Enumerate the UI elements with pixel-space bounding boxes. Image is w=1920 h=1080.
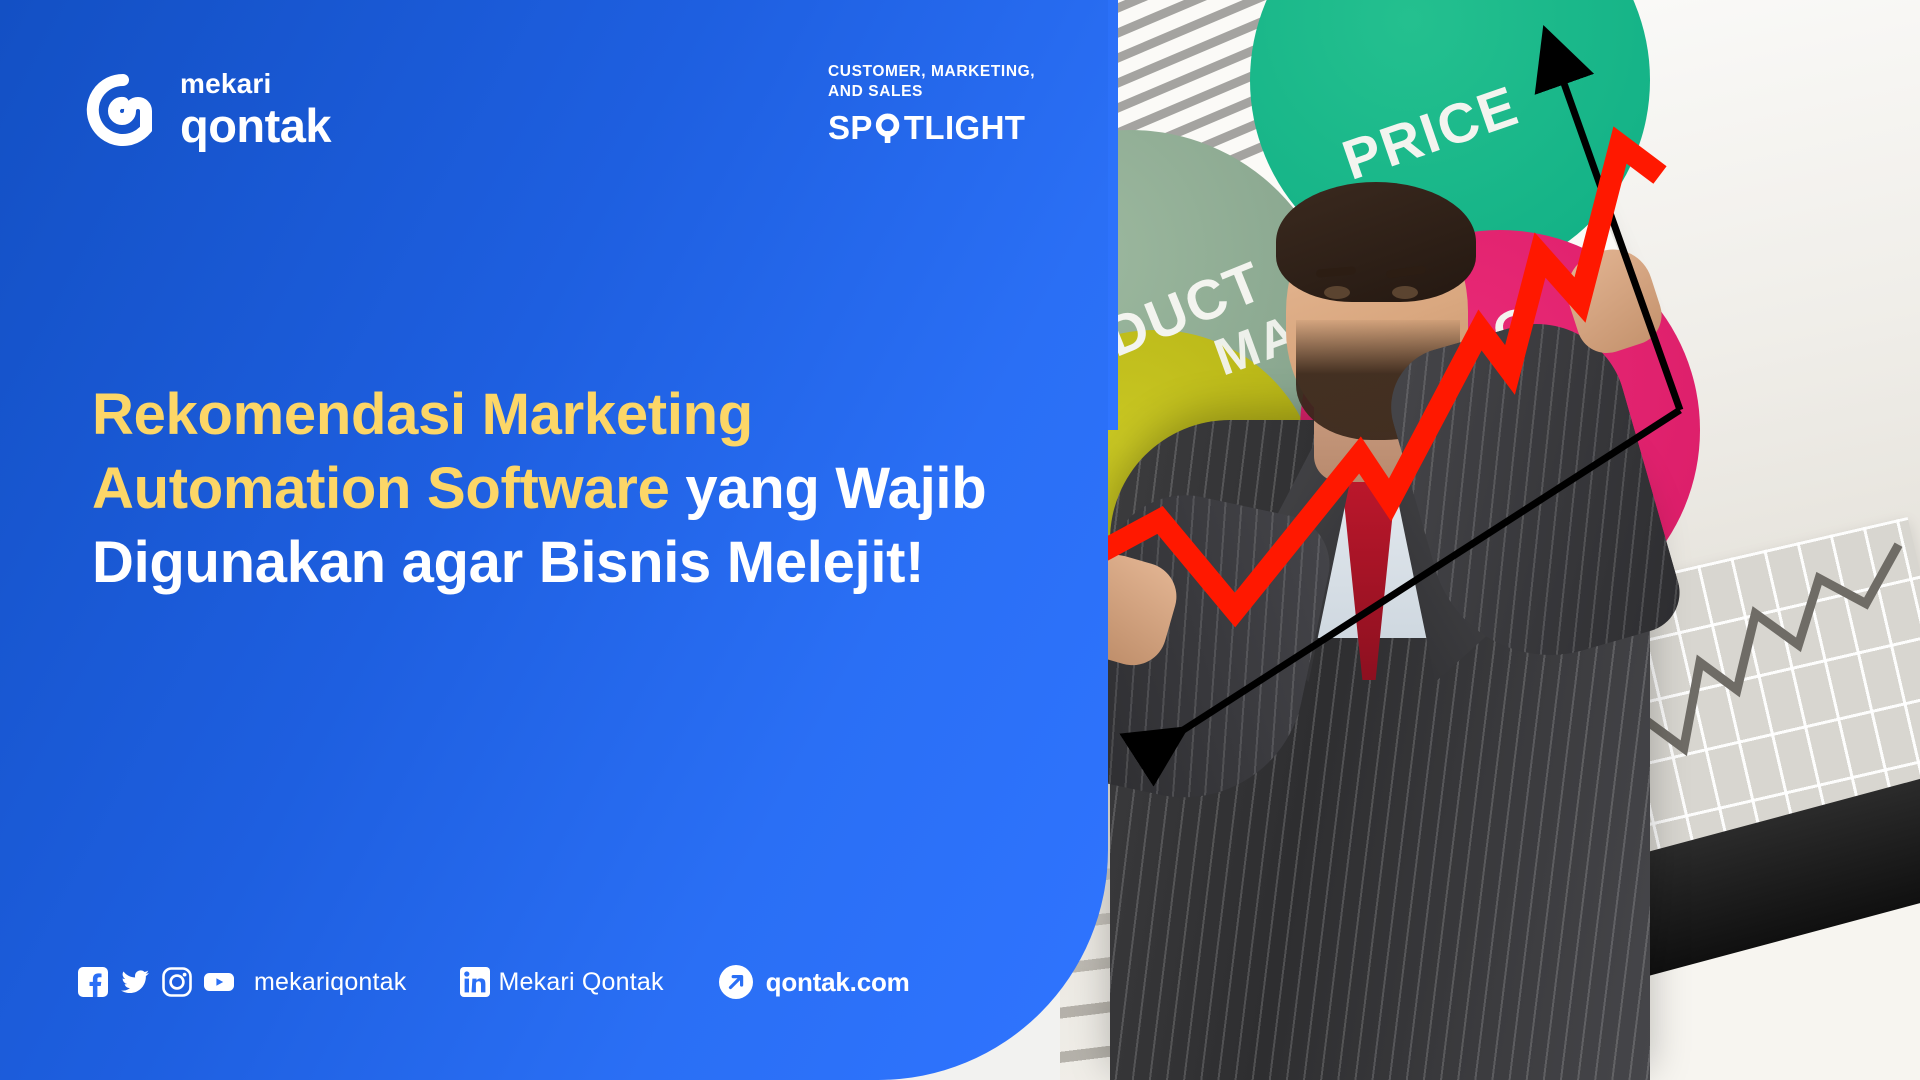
linkedin-group[interactable]: Mekari Qontak — [460, 967, 663, 997]
twitter-icon[interactable] — [120, 967, 150, 997]
linkedin-icon[interactable] — [460, 967, 490, 997]
spotlight-subtitle-line2: AND SALES — [828, 82, 1088, 102]
page-title: Rekomendasi Marketing Automation Softwar… — [92, 378, 1022, 601]
youtube-icon[interactable] — [204, 967, 234, 997]
social-handle-group[interactable]: mekariqontak — [78, 967, 406, 997]
headline-accent-part1: Rekomendasi Marketing — [92, 382, 753, 447]
social-handle-text: mekariqontak — [254, 968, 406, 997]
logo-text-qontak: qontak — [180, 102, 331, 149]
eye-right — [1392, 286, 1418, 299]
website-text: qontak.com — [766, 967, 910, 998]
spotlight-text-after: TLIGHT — [904, 109, 1026, 147]
facebook-icon[interactable] — [78, 967, 108, 997]
linkedin-handle-text: Mekari Qontak — [498, 968, 663, 997]
arrow-up-right-circle-icon[interactable] — [718, 964, 754, 1000]
spotlight-subtitle-line1: CUSTOMER, MARKETING, — [828, 62, 1088, 82]
instagram-icon[interactable] — [162, 967, 192, 997]
blue-content-panel: mekari qontak CUSTOMER, MARKETING, AND S… — [0, 0, 1108, 1080]
magnifier-o-icon — [874, 113, 903, 143]
spotlight-badge: CUSTOMER, MARKETING, AND SALES SP TLIGHT — [828, 62, 1088, 147]
hero-photo: F M A M J J A S PRODUCT PRICE MARKET PRO… — [1060, 0, 1920, 1080]
brand-logo[interactable]: mekari qontak — [86, 70, 331, 149]
qontak-q-mark-icon — [86, 73, 160, 147]
eye-left — [1324, 286, 1350, 299]
logo-text-mekari: mekari — [180, 70, 331, 98]
businessman-figure — [1100, 160, 1660, 1080]
footer-social-bar: mekariqontak Mekari Qontak qontak.com — [78, 964, 910, 1000]
hair — [1276, 182, 1476, 302]
spotlight-text-before: SP — [828, 109, 873, 147]
website-group[interactable]: qontak.com — [718, 964, 910, 1000]
spotlight-wordmark: SP TLIGHT — [828, 109, 1088, 147]
headline-accent-part2: Automation Software — [92, 456, 670, 521]
